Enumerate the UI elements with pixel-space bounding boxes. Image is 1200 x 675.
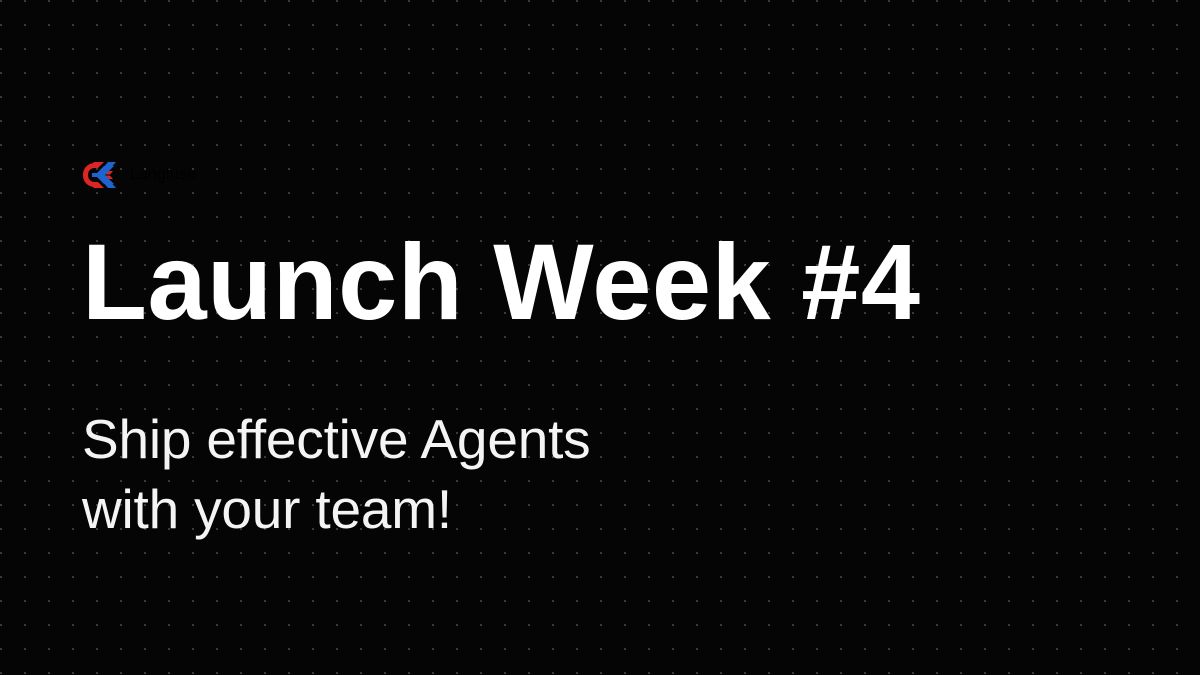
brand-name: Langfuse [130,166,196,184]
page-title: Launch Week #4 [82,228,921,336]
subtitle-line-2: with your team! [82,474,590,544]
content-column: Langfuse Launch Week #4 Ship effective A… [82,0,1142,675]
launch-week-banner: Langfuse Launch Week #4 Ship effective A… [0,0,1200,675]
brand-lockup: Langfuse [82,158,196,192]
subtitle: Ship effective Agents with your team! [82,404,590,544]
langfuse-logo-icon [82,161,116,189]
subtitle-line-1: Ship effective Agents [82,404,590,474]
